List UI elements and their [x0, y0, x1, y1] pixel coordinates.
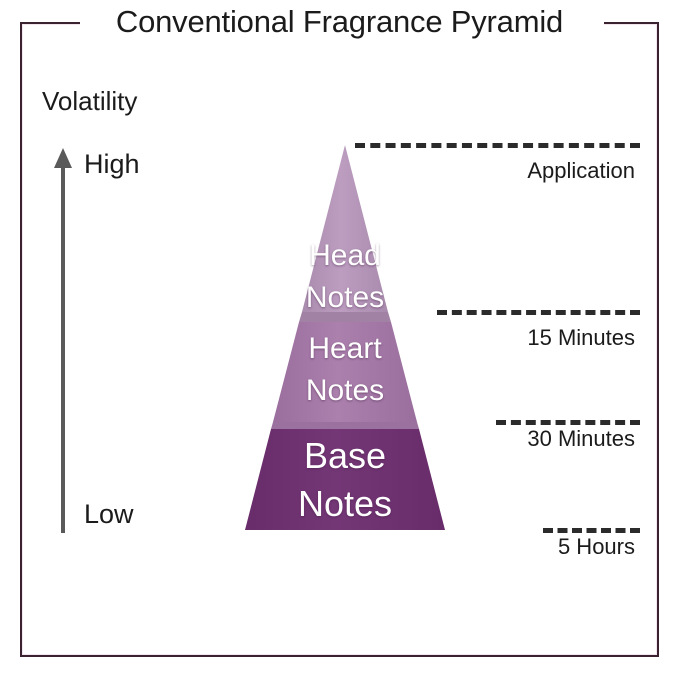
timeline-label-30-minutes: 30 Minutes [527, 426, 635, 452]
timeline-label-application: Application [527, 158, 635, 184]
timeline-label-5-hours: 5 Hours [558, 534, 635, 560]
pyramid-shelf-head [299, 312, 391, 322]
pyramid-graphic [150, 138, 552, 538]
page-title: Conventional Fragrance Pyramid [0, 5, 679, 39]
axis-title-volatility: Volatility [42, 86, 137, 116]
leader-line-5-hours [543, 528, 640, 533]
leader-line-15-minutes [437, 310, 640, 315]
fragrance-pyramid-infographic: Conventional Fragrance Pyramid Volatilit… [0, 0, 679, 679]
pyramid-shelf-heart [271, 422, 419, 429]
pyramid-band-head [302, 145, 388, 312]
leader-line-application [355, 143, 640, 148]
axis-label-low: Low [84, 498, 134, 530]
pyramid-band-heart [273, 322, 417, 422]
axis-label-high: High [84, 148, 140, 180]
pyramid-band-base [245, 429, 445, 530]
timeline-label-15-minutes: 15 Minutes [527, 325, 635, 351]
volatility-arrow-icon [52, 145, 74, 535]
leader-line-30-minutes [496, 420, 640, 425]
